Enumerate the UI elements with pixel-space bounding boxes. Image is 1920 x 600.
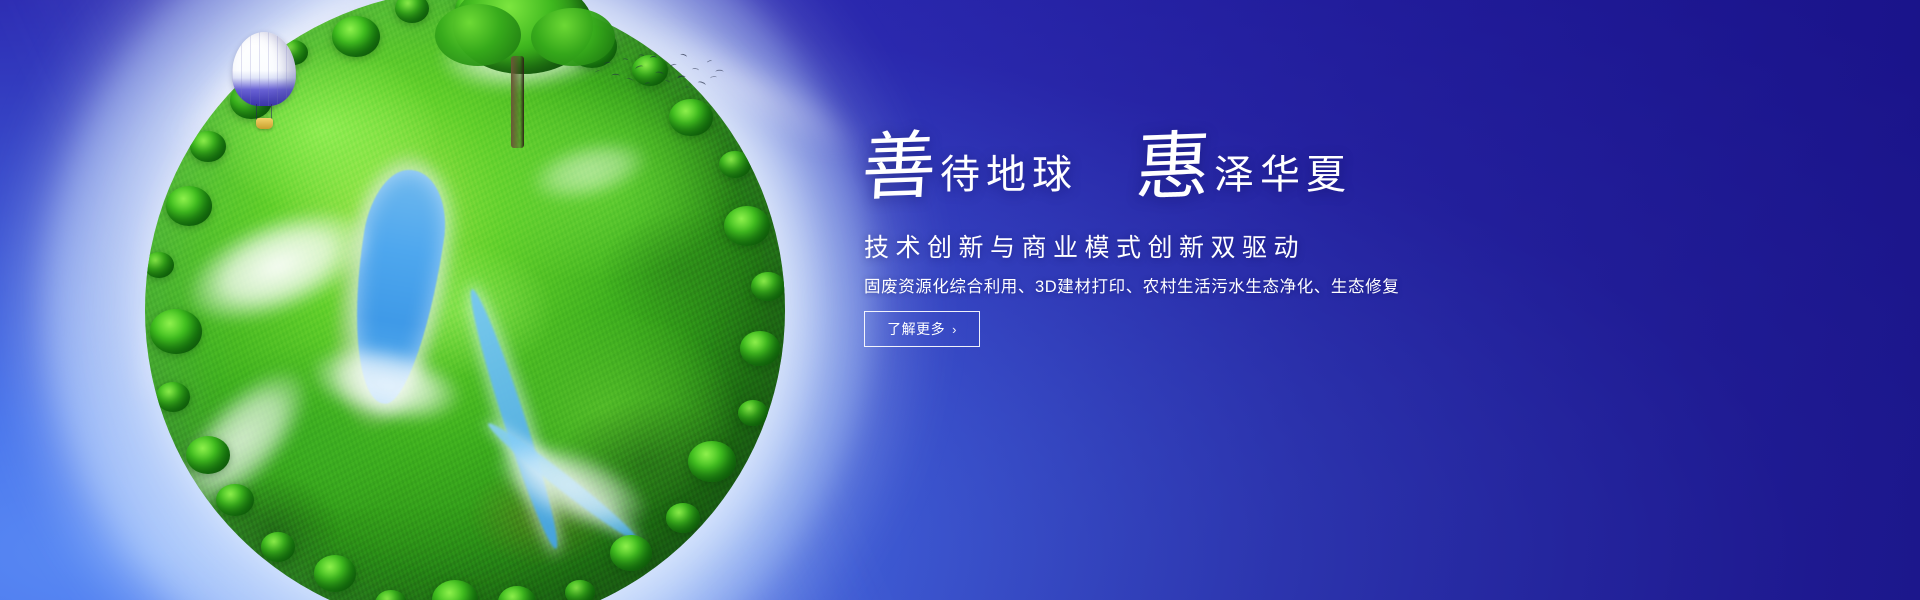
banner-subtitle: 技术创新与商业模式创新双驱动 — [864, 228, 1305, 264]
bird-icon — [639, 54, 645, 58]
balloon-ropes — [256, 104, 272, 120]
rim-tree-icon — [751, 272, 785, 301]
bird-icon — [595, 70, 601, 74]
surface-cloud — [173, 188, 384, 344]
river-water — [462, 285, 566, 554]
rim-tree-icon — [524, 0, 554, 23]
bird-icon — [655, 71, 664, 77]
rim-tree-icon — [216, 484, 254, 517]
river-tributary — [483, 417, 643, 547]
hot-air-balloon-icon — [232, 32, 296, 136]
bird-icon — [697, 80, 706, 87]
hero-tree-icon — [435, 0, 615, 148]
atmosphere-outer-glow — [20, 0, 920, 600]
rim-tree-icon — [166, 186, 212, 226]
hero-banner: 善 待地球 惠 泽华夏 技术创新与商业模式创新双驱动 固废资源化综合利用、3D建… — [0, 0, 1920, 600]
lake-water — [338, 164, 454, 409]
terrain-texture-layer — [145, 0, 785, 600]
rim-tree-icon — [156, 382, 190, 411]
rim-tree-icon — [186, 436, 230, 474]
rim-tree-icon — [278, 40, 308, 66]
bird-icon — [680, 53, 688, 59]
rim-tree-icon — [395, 0, 429, 23]
headline-phrase-1: 善 待地球 — [862, 133, 1078, 201]
banner-description: 固废资源化综合利用、3D建材打印、农村生活污水生态净化、生态修复 — [864, 273, 1399, 297]
cirrus-cloud-streak — [119, 6, 322, 304]
bird-icon — [626, 77, 634, 83]
bird-icon — [623, 58, 629, 62]
rim-tree-icon — [314, 555, 356, 591]
rim-tree-icon — [610, 535, 652, 571]
surface-cloud — [157, 349, 329, 528]
atmosphere-cloud-halo — [45, 0, 875, 600]
cirrus-cloud-streak — [622, 2, 879, 175]
rim-tree-icon — [738, 400, 768, 426]
headline-char-large: 善 — [860, 132, 938, 203]
rim-tree-icon — [498, 586, 536, 600]
lake-shoreline — [316, 143, 466, 436]
headline: 善 待地球 惠 泽华夏 — [862, 133, 1352, 201]
surface-cloud — [483, 423, 658, 548]
terrain-grass-layer — [145, 0, 785, 600]
chevron-right-icon: › — [952, 323, 957, 336]
bird-flock-icon — [592, 52, 722, 96]
headline-chars-small: 泽华夏 — [1214, 155, 1352, 195]
rim-tree-icon — [688, 441, 736, 482]
rim-tree-icon — [375, 590, 407, 600]
bird-icon — [635, 64, 644, 71]
rim-tree-icon — [145, 252, 174, 278]
bird-icon — [665, 80, 671, 84]
cirrus-cloud-streak — [117, 82, 272, 413]
rim-tree-icon — [230, 82, 272, 118]
rim-tree-icon — [740, 331, 780, 365]
bird-icon — [604, 62, 611, 67]
rim-tree-icon — [432, 580, 478, 600]
globe-sphere — [145, 0, 785, 600]
banner-content: 善 待地球 惠 泽华夏 技术创新与商业模式创新双驱动 固废资源化综合利用、3D建… — [862, 0, 1920, 600]
rim-tree-icon — [669, 99, 713, 137]
bird-icon — [685, 87, 690, 90]
learn-more-label: 了解更多 — [887, 319, 945, 339]
bird-icon — [650, 56, 657, 60]
rim-tree-icon — [567, 25, 617, 68]
cirrus-cloud-streak — [168, 290, 302, 543]
learn-more-button[interactable]: 了解更多 › — [864, 311, 980, 347]
headline-char-large: 惠 — [1134, 132, 1212, 203]
bird-icon — [707, 60, 713, 64]
bird-icon — [645, 82, 651, 86]
surface-cloud — [435, 0, 624, 101]
rim-tree-icon — [632, 55, 668, 86]
rim-tree-icon — [719, 151, 751, 179]
surface-cloud — [306, 334, 468, 436]
rim-tree-icon — [150, 309, 202, 354]
bird-icon — [611, 74, 619, 79]
headline-chars-small: 待地球 — [940, 155, 1078, 195]
balloon-envelope — [232, 32, 296, 106]
rim-tree-icon — [332, 16, 380, 57]
bird-icon — [692, 68, 699, 73]
rim-tree-icon — [565, 580, 595, 600]
bird-icon — [710, 76, 717, 81]
cirrus-cloud-streak — [151, 0, 409, 170]
headline-phrase-2: 惠 泽华夏 — [1136, 133, 1352, 201]
rim-tree-icon — [261, 532, 295, 561]
bird-icon — [670, 63, 678, 69]
rim-tree-icon — [724, 206, 770, 246]
rim-tree-icon — [455, 0, 495, 27]
globe-illustration — [0, 0, 860, 600]
bird-icon — [715, 70, 723, 75]
rim-tree-icon — [190, 131, 226, 162]
terrain-shadow-layer — [145, 0, 785, 600]
bird-icon — [677, 75, 686, 81]
rim-tree-icon — [666, 503, 700, 532]
balloon-basket — [256, 118, 273, 129]
surface-cloud — [524, 130, 653, 211]
